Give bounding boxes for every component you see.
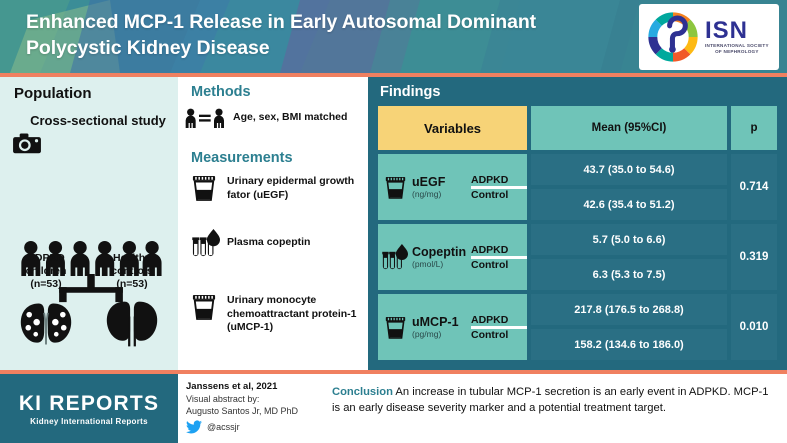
population-panel: Population Cross-sectional study: [0, 77, 178, 370]
measurement-label-uegf: Urinary epidermal growth fator (uEGF): [227, 175, 368, 202]
group-labels-umcp1: ADPKD Control: [471, 314, 527, 341]
table-header-row: Variables Mean (95%CI) p: [378, 106, 777, 150]
variable-name-uegf: uEGF: [412, 175, 471, 189]
methods-panel: Methods Age, sex, BMI matched Measuremen…: [178, 77, 366, 370]
twitter-handle-link[interactable]: @acssjr: [186, 420, 326, 434]
group-label-adpkd: ADPKD: [471, 244, 508, 256]
urine-cup-icon: [192, 294, 216, 320]
urine-cup-icon: [378, 176, 412, 199]
twitter-bird-icon: [186, 420, 202, 434]
page-title: Enhanced MCP-1 Release in Early Autosoma…: [26, 9, 626, 61]
population-heading: Population: [14, 85, 92, 102]
page-header: Enhanced MCP-1 Release in Early Autosoma…: [0, 0, 787, 73]
page-footer: KI REPORTS Kidney International Reports …: [0, 370, 787, 443]
measurement-item-umcp1: Urinary monocyte chemoattractant protein…: [192, 294, 368, 335]
isn-logo: ISN INTERNATIONAL SOCIETY OF NEPHROLOGY: [639, 4, 779, 70]
findings-table: Variables Mean (95%CI) p: [378, 106, 777, 364]
variable-name-copeptin: Copeptin: [412, 245, 471, 259]
journal-title: KI REPORTS: [19, 392, 159, 416]
variable-unit-umcp1: (pg/mg): [412, 329, 471, 339]
group-label-control: Control: [471, 189, 508, 201]
group-label-control: Healthy controls (n=53): [92, 252, 172, 291]
mean-cells-uegf: 43.7 (35.0 to 54.6) 42.6 (35.4 to 51.2): [531, 154, 727, 220]
conclusion-block: Conclusion An increase in tubular MCP-1 …: [332, 384, 778, 416]
group-n-adpkd: (n=53): [30, 278, 61, 290]
measurements-heading: Measurements: [191, 150, 293, 166]
group-label-adpkd: ADPKD: [471, 314, 508, 326]
p-value-copeptin: 0.319: [731, 224, 777, 290]
group-labels-copeptin: ADPKD Control: [471, 244, 527, 271]
measurement-label-copeptin: Plasma copeptin: [227, 236, 310, 250]
blood-tubes-drop-icon: [192, 229, 220, 257]
blood-tubes-drop-icon: [378, 244, 412, 270]
variable-unit-uegf: (ng/mg): [412, 189, 471, 199]
journal-logo: KI REPORTS Kidney International Reports: [0, 374, 178, 443]
credit-line-1: Visual abstract by:: [186, 393, 326, 405]
credits-block: Janssens et al, 2021 Visual abstract by:…: [186, 380, 326, 434]
col-header-variables: Variables: [378, 106, 527, 150]
row-variable-uegf: uEGF (ng/mg) ADPKD Control: [378, 154, 527, 220]
group-name-adpkd: ADPKD children: [26, 252, 67, 277]
measurement-item-uegf: Urinary epidermal growth fator (uEGF): [192, 175, 368, 202]
twitter-handle-text: @acssjr: [207, 422, 240, 432]
group-label-control: Control: [471, 329, 508, 341]
two-people-equals-icon: [184, 108, 229, 128]
measurement-label-umcp1: Urinary monocyte chemoattractant protein…: [227, 294, 368, 335]
methods-heading: Methods: [191, 84, 251, 100]
table-row: uMCP-1 (pg/mg) ADPKD Control 217.8 (176.…: [378, 294, 777, 360]
p-value-uegf: 0.714: [731, 154, 777, 220]
p-value-umcp1: 0.010: [731, 294, 777, 360]
citation: Janssens et al, 2021: [186, 380, 326, 393]
table-row: uEGF (ng/mg) ADPKD Control 43.7 (35.0 to…: [378, 154, 777, 220]
isn-logo-name: ISN: [705, 19, 769, 43]
cystic-kidneys-icon: [18, 299, 74, 349]
findings-panel: Findings Variables Mean (95%CI) p: [368, 77, 787, 370]
isn-logo-sub-2: OF NEPHROLOGY: [705, 49, 769, 55]
normal-kidneys-icon: [104, 299, 160, 349]
method-label-matching: Age, sex, BMI matched: [233, 111, 347, 125]
row-variable-umcp1: uMCP-1 (pg/mg) ADPKD Control: [378, 294, 527, 360]
conclusion-label: Conclusion: [332, 386, 393, 398]
conclusion-text: An increase in tubular MCP-1 secretion i…: [332, 386, 769, 414]
credit-line-2: Augusto Santos Jr, MD PhD: [186, 405, 326, 417]
mean-value-uegf-control: 42.6 (35.4 to 51.2): [531, 189, 727, 220]
study-design-label: Cross-sectional study: [28, 113, 168, 129]
col-header-mean: Mean (95%CI): [531, 106, 727, 150]
measurement-item-copeptin: Plasma copeptin: [192, 229, 368, 257]
group-label-adpkd: ADPKD: [471, 174, 508, 186]
mean-cells-copeptin: 5.7 (5.0 to 6.6) 6.3 (5.3 to 7.5): [531, 224, 727, 290]
main-content: Population Cross-sectional study: [0, 77, 787, 370]
table-row: Copeptin (pmol/L) ADPKD Control 5.7 (5.0…: [378, 224, 777, 290]
journal-subtitle: Kidney International Reports: [30, 417, 148, 426]
mean-value-umcp1-adpkd: 217.8 (176.5 to 268.8): [531, 294, 727, 325]
group-label-adpkd: ADPKD children (n=53): [6, 252, 86, 291]
mean-value-umcp1-control: 158.2 (134.6 to 186.0): [531, 329, 727, 360]
camera-icon: [12, 132, 42, 154]
variable-name-umcp1: uMCP-1: [412, 315, 471, 329]
row-variable-copeptin: Copeptin (pmol/L) ADPKD Control: [378, 224, 527, 290]
method-item-matching: Age, sex, BMI matched: [184, 108, 364, 128]
header-divider: [0, 73, 787, 77]
urine-cup-icon: [192, 175, 216, 201]
urine-cup-icon: [378, 316, 412, 339]
group-label-control: Control: [471, 259, 508, 271]
group-name-control: Healthy controls: [111, 252, 152, 277]
mean-value-uegf-adpkd: 43.7 (35.0 to 54.6): [531, 154, 727, 185]
mean-cells-umcp1: 217.8 (176.5 to 268.8) 158.2 (134.6 to 1…: [531, 294, 727, 360]
group-n-control: (n=53): [116, 278, 147, 290]
col-header-p: p: [731, 106, 777, 150]
group-labels-uegf: ADPKD Control: [471, 174, 527, 201]
mean-value-copeptin-control: 6.3 (5.3 to 7.5): [531, 259, 727, 290]
findings-heading: Findings: [380, 84, 440, 100]
mean-value-copeptin-adpkd: 5.7 (5.0 to 6.6): [531, 224, 727, 255]
variable-unit-copeptin: (pmol/L): [412, 259, 471, 269]
isn-mark-icon: [645, 9, 701, 65]
